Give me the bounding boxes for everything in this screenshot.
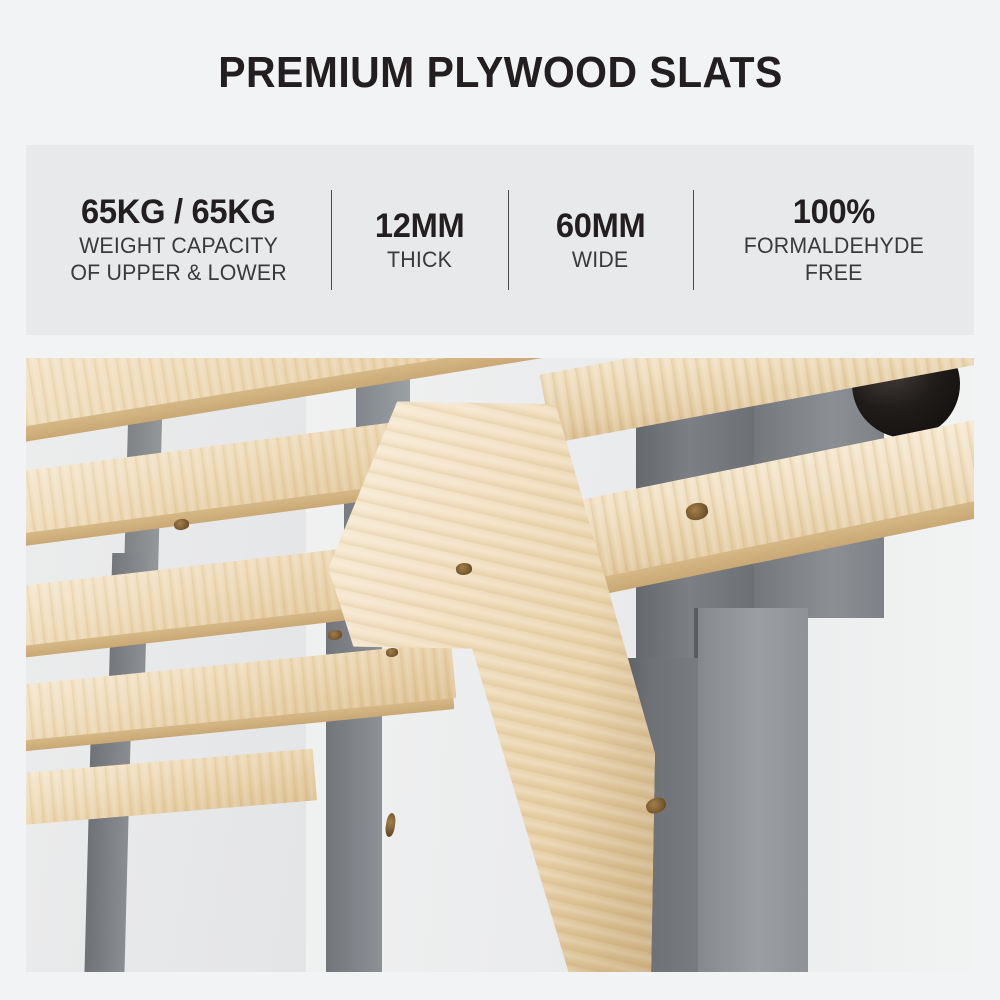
spec-sub-line-1: WEIGHT CAPACITY [79,233,278,260]
spec-divider-1 [331,190,332,290]
spec-sub-line-1: THICK [387,247,452,274]
spec-headline: 65KG / 65KG [81,193,276,231]
spec-item-formaldehyde-free: 100% FORMALDEHYDE FREE [693,145,974,335]
spec-headline: 60MM [556,207,646,245]
spec-sub-line-2: OF UPPER & LOWER [70,260,287,287]
product-photo: AUSTRALIAN STANDARD MATTRESS COMPATIBLE [26,358,974,972]
spec-item-thickness: 12MM THICK [331,145,507,335]
spec-divider-3 [693,190,694,290]
spec-sub-line-2: FREE [805,260,863,287]
spec-sub-line-1: FORMALDEHYDE [744,233,924,260]
spec-headline: 12MM [375,207,465,245]
metal-frame-post-right-outer [698,608,808,972]
spec-headline: 100% [792,193,874,231]
spec-item-weight-capacity: 65KG / 65KG WEIGHT CAPACITY OF UPPER & L… [26,145,331,335]
page-title: PREMIUM PLYWOOD SLATS [218,48,782,98]
spec-item-width: 60MM WIDE [508,145,694,335]
spec-sub-line-1: WIDE [572,247,629,274]
header-bar: PREMIUM PLYWOOD SLATS [0,0,1000,145]
spec-panel: 65KG / 65KG WEIGHT CAPACITY OF UPPER & L… [26,145,974,335]
spec-divider-2 [508,190,509,290]
